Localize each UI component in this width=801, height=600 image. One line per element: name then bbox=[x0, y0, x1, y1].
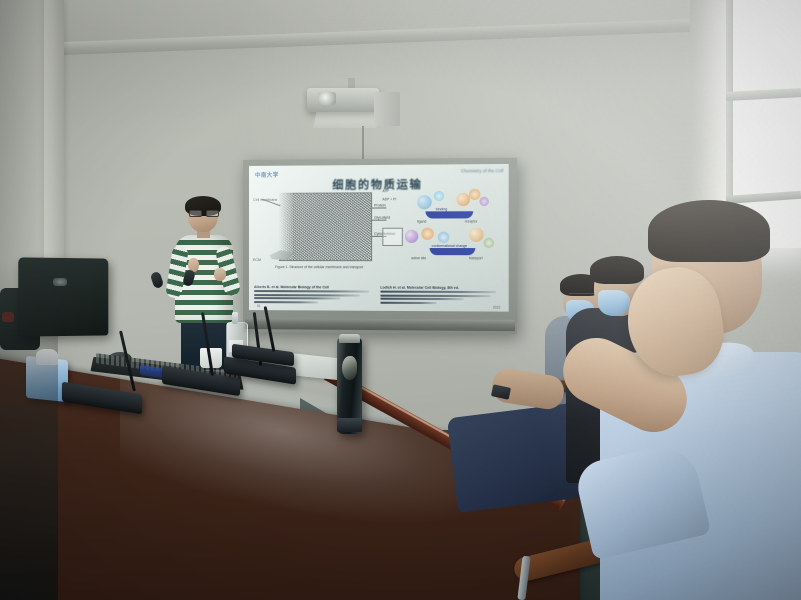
arrow-label: binding bbox=[436, 207, 447, 211]
sanitizer-pump-icon[interactable] bbox=[232, 312, 238, 324]
face-mask-icon bbox=[598, 290, 630, 316]
schematic-label: active site bbox=[411, 256, 426, 260]
schematic-inset-box bbox=[382, 228, 403, 246]
bottle-cap[interactable] bbox=[339, 334, 360, 343]
projector-arm bbox=[374, 92, 400, 126]
molecule-glyph bbox=[479, 197, 488, 206]
molecule-glyph bbox=[417, 195, 431, 209]
projector-cable bbox=[362, 126, 364, 160]
molecule-glyph bbox=[457, 193, 471, 206]
reaction-schematic: ATP ADP + Pi binding ligand receptor bbox=[380, 187, 502, 267]
marker-tray bbox=[245, 318, 515, 331]
presenter-right-hand bbox=[214, 268, 226, 281]
slide-content: 中南大学 Chemistry of the Cell 细胞的物质运输 Cell … bbox=[249, 164, 509, 312]
micrograph-label: ECM bbox=[253, 258, 261, 262]
slide-number: 01 bbox=[257, 304, 261, 308]
reaction-arrow bbox=[425, 211, 473, 218]
reference-heading: Alberts B. et al. Molecular Biology of t… bbox=[254, 285, 374, 290]
micrograph-label: Cell membrane bbox=[253, 198, 277, 202]
attendee-middle-hair bbox=[590, 256, 644, 284]
bottle-graphic bbox=[342, 356, 357, 380]
molecule-glyph bbox=[434, 191, 444, 201]
arrow-label: conformational change bbox=[432, 244, 468, 248]
left-shadow bbox=[0, 260, 58, 600]
molecule-glyph bbox=[405, 230, 418, 243]
molecule-glyph bbox=[484, 238, 494, 248]
slide-header-note: Chemistry of the Cell bbox=[461, 168, 504, 173]
molecule-glyph bbox=[469, 228, 484, 242]
molecule-glyph bbox=[438, 232, 449, 243]
schematic-label: ligand bbox=[417, 220, 426, 224]
schematic-label: ADP + Pi bbox=[382, 197, 396, 201]
meeting-room-photo: 中南大学 Chemistry of the Cell 细胞的物质运输 Cell … bbox=[0, 0, 801, 600]
attendee-front-hair bbox=[648, 200, 770, 262]
schematic-label: transport bbox=[469, 256, 483, 260]
schematic-label: ATP bbox=[382, 189, 388, 193]
slide-footer: 01 2022 bbox=[257, 302, 500, 310]
molecule-glyph bbox=[469, 189, 480, 200]
reference-heading: Lodish H. et al. Molecular Cell Biology,… bbox=[380, 286, 503, 291]
projector-lens-icon bbox=[318, 92, 336, 105]
projection-screen: 中南大学 Chemistry of the Cell 细胞的物质运输 Cell … bbox=[249, 164, 509, 312]
slide-year: 2022 bbox=[493, 305, 500, 309]
schematic-label: receptor bbox=[465, 219, 478, 223]
figure-caption: Figure 1. Structure of the cellular memb… bbox=[275, 265, 386, 269]
molecule-glyph bbox=[421, 228, 433, 240]
eyeglasses-icon bbox=[189, 210, 217, 215]
whiteboard[interactable]: 中南大学 Chemistry of the Cell 细胞的物质运输 Cell … bbox=[243, 158, 517, 335]
reaction-arrow bbox=[430, 248, 476, 255]
bottle-base bbox=[337, 418, 362, 432]
micrograph-membrane-edge bbox=[279, 193, 293, 259]
